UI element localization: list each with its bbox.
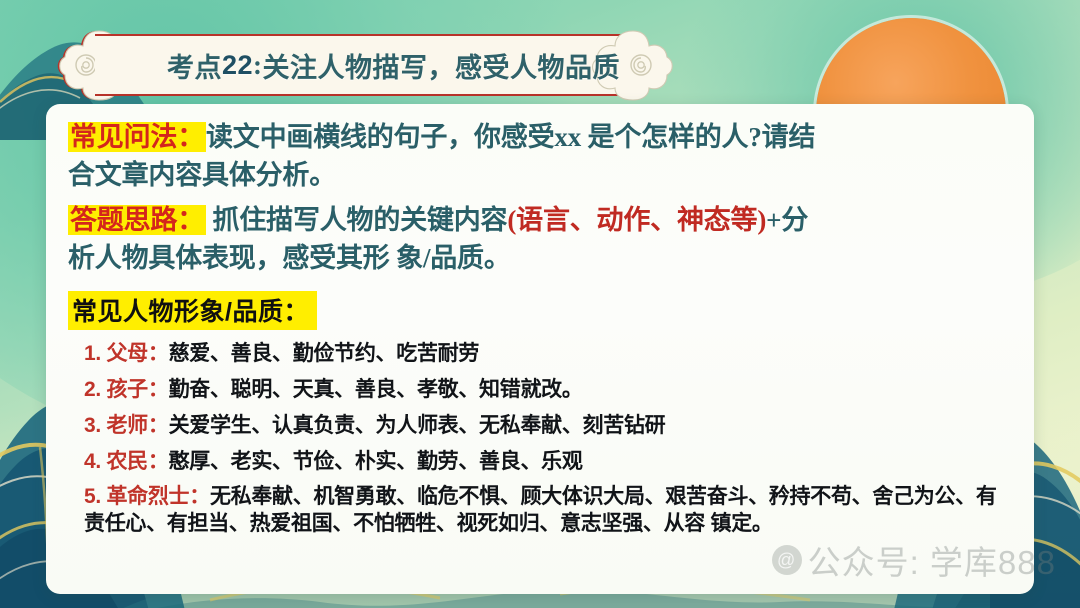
list-item-label: 1. 父母： (84, 342, 169, 365)
answer-strategy-text-a: 抓住描写人物的关键内容 (206, 205, 507, 235)
banner-title-number: 22 (222, 50, 253, 81)
list-item-content: 无私奉献、机智勇敢、临危不惧、顾大体识大局、艰苦奋斗、矜持不苟、舍己为公、有责任… (84, 485, 997, 536)
list-item: 1. 父母：慈爱、善良、勤俭节约、吃苦耐劳 (68, 339, 1014, 369)
answer-strategy-label: 答题思路： (68, 205, 206, 235)
answer-strategy-line2: 析人物具体表现，感受其形 象/品质。 (68, 243, 511, 273)
question-type-block: 常见问法：读文中画横线的句子，你感受xx 是个怎样的人?请结 合文章内容具体分析… (68, 118, 1014, 195)
answer-strategy-block: 答题思路： 抓住描写人物的关键内容(语言、动作、神态等)+分 析人物具体表现，感… (68, 201, 1014, 278)
question-type-line1: 读文中画横线的句子，你感受xx 是个怎样的人?请结 (206, 122, 815, 152)
list-item-content: 关爱学生、认真负责、为人师表、无私奉献、刻苦钻研 (169, 414, 666, 437)
list-item: 3. 老师：关爱学生、认真负责、为人师表、无私奉献、刻苦钻研 (68, 411, 1014, 441)
list-item-label: 5. 革命烈士： (84, 485, 210, 508)
list-item-label: 4. 农民： (84, 450, 169, 473)
list-item: 4. 农民：憨厚、老实、节俭、朴实、勤劳、善良、乐观 (68, 447, 1014, 477)
list-item-content: 慈爱、善良、勤俭节约、吃苦耐劳 (169, 342, 480, 365)
question-type-line2: 合文章内容具体分析。 (68, 160, 336, 190)
section-heading: 常见人物形象/品质： (68, 291, 317, 330)
content-card: 常见问法：读文中画横线的句子，你感受xx 是个怎样的人?请结 合文章内容具体分析… (46, 104, 1034, 594)
page-title: 考点22:关注人物描写，感受人物品质 (167, 34, 620, 96)
banner-title-colon: : (253, 50, 263, 81)
list-item-label: 2. 孩子： (84, 378, 169, 401)
banner-title-prefix: 考点 (167, 46, 222, 85)
list-item-label: 3. 老师： (84, 414, 169, 437)
banner-title-text: 关注人物描写，感受人物品质 (263, 46, 621, 85)
list-item-content: 憨厚、老实、节俭、朴实、勤劳、善良、乐观 (169, 450, 583, 473)
list-item: 5. 革命烈士：无私奉献、机智勇敢、临危不惧、顾大体识大局、艰苦奋斗、矜持不苟、… (68, 483, 1014, 538)
section-heading-wrap: 常见人物形象/品质： (68, 277, 1014, 330)
character-trait-list: 1. 父母：慈爱、善良、勤俭节约、吃苦耐劳 2. 孩子：勤奋、聪明、天真、善良、… (68, 339, 1014, 538)
list-item-content: 勤奋、聪明、天真、善良、孝敬、知错就改。 (169, 378, 583, 401)
answer-strategy-text-b: +分 (766, 205, 808, 235)
slide-canvas: 考点22:关注人物描写，感受人物品质 常见问法：读文中画横线的句子，你感受xx … (0, 0, 1080, 608)
list-item: 2. 孩子：勤奋、聪明、天真、善良、孝敬、知错就改。 (68, 375, 1014, 405)
title-banner: 考点22:关注人物描写，感受人物品质 (55, 34, 675, 96)
question-type-label: 常见问法： (68, 122, 206, 152)
answer-strategy-text-red: (语言、动作、神态等) (507, 205, 766, 235)
